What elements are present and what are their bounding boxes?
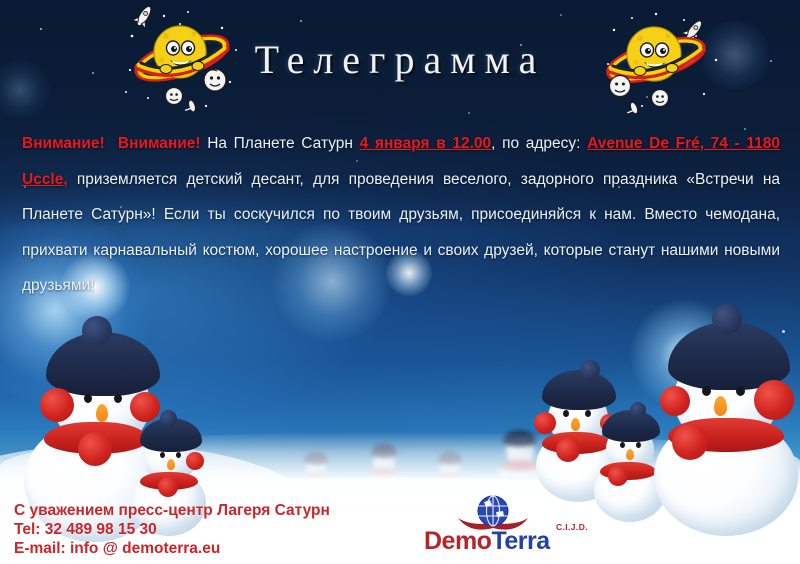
announcement-rest: приземляется детский десант, для проведе… <box>22 171 780 295</box>
moon-face-icon-2 <box>166 88 183 105</box>
logo-wordmark: DemoTerra <box>424 527 550 556</box>
footer-phone[interactable]: Tel: 32 489 98 15 30 <box>14 520 330 539</box>
address-prefix: , по адресу: <box>491 135 580 152</box>
moon-face-icon-2 <box>652 90 669 107</box>
event-datetime: 4 января в 12.00 <box>360 135 492 152</box>
saturn-mascot-right <box>598 6 728 114</box>
contact-footer: С уважением пресс-центр Лагеря Сатурн Te… <box>14 501 330 558</box>
footer-email[interactable]: E-mail: info @ demoterra.eu <box>14 539 330 558</box>
comet-icon <box>183 99 197 114</box>
snowman-large-right <box>650 330 800 526</box>
announcement-paragraph: Внимание! Внимание! На Планете Сатурн 4 … <box>22 126 780 304</box>
poster-header: Телеграмма <box>0 0 800 118</box>
announcement-body: Внимание! Внимание! На Планете Сатурн 4 … <box>22 126 780 304</box>
rocket-icon <box>131 6 156 30</box>
attention-label-2: Внимание! <box>118 135 201 152</box>
footer-signature: С уважением пресс-центр Лагеря Сатурн <box>14 501 330 520</box>
moon-face-icon-1 <box>610 76 631 97</box>
intro-text: На Планете Сатурн <box>207 135 353 152</box>
logo-terra-text: Terra <box>491 527 549 555</box>
comet-icon <box>624 101 639 114</box>
logo-demo-text: Demo <box>424 527 491 555</box>
demoterra-logo[interactable]: C.I.J.D. DemoTerra <box>424 494 584 556</box>
logo-cijd-text: C.I.J.D. <box>556 522 588 532</box>
telegram-poster: Телеграмма <box>0 0 800 564</box>
attention-label-1: Внимание! <box>22 135 105 152</box>
